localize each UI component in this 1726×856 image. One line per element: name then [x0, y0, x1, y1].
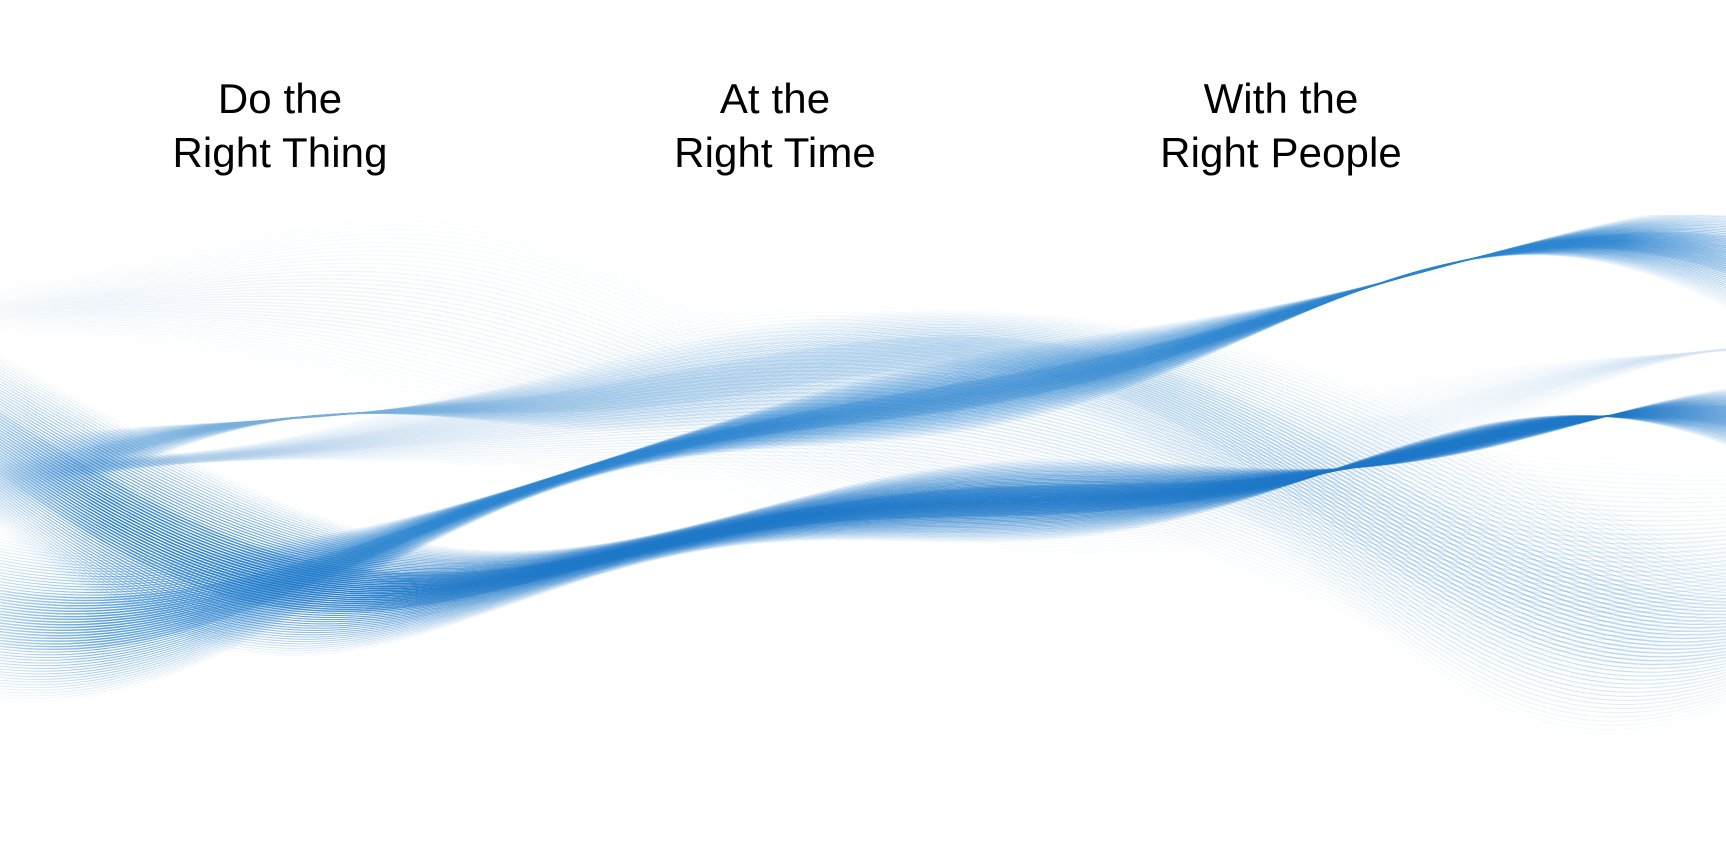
slide-canvas: Do the Right Thing At the Right Time Wit…: [0, 0, 1726, 856]
abstract-blue-wave-graphic: [0, 0, 1726, 856]
